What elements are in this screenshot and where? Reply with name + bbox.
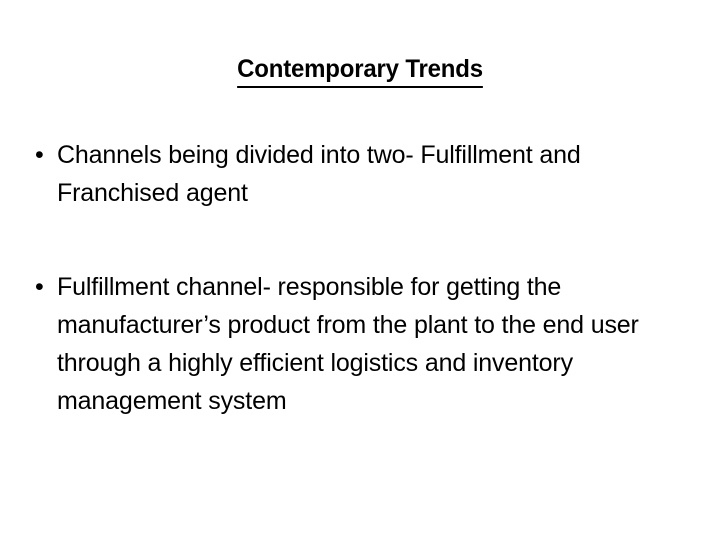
list-item: • Channels being divided into two- Fulfi… — [30, 136, 696, 212]
list-item: • Fulfillment channel- responsible for g… — [30, 268, 696, 420]
bullet-point-icon: • — [35, 136, 49, 174]
slide-body: • Channels being divided into two- Fulfi… — [30, 136, 696, 420]
slide-title-area: Contemporary Trends — [0, 54, 720, 88]
presentation-slide: Contemporary Trends • Channels being div… — [0, 0, 720, 540]
page-title: Contemporary Trends — [237, 54, 483, 88]
list-item-text: Fulfillment channel- responsible for get… — [57, 268, 696, 420]
list-item-text: Channels being divided into two- Fulfill… — [57, 136, 696, 212]
bullet-point-icon: • — [35, 268, 49, 306]
